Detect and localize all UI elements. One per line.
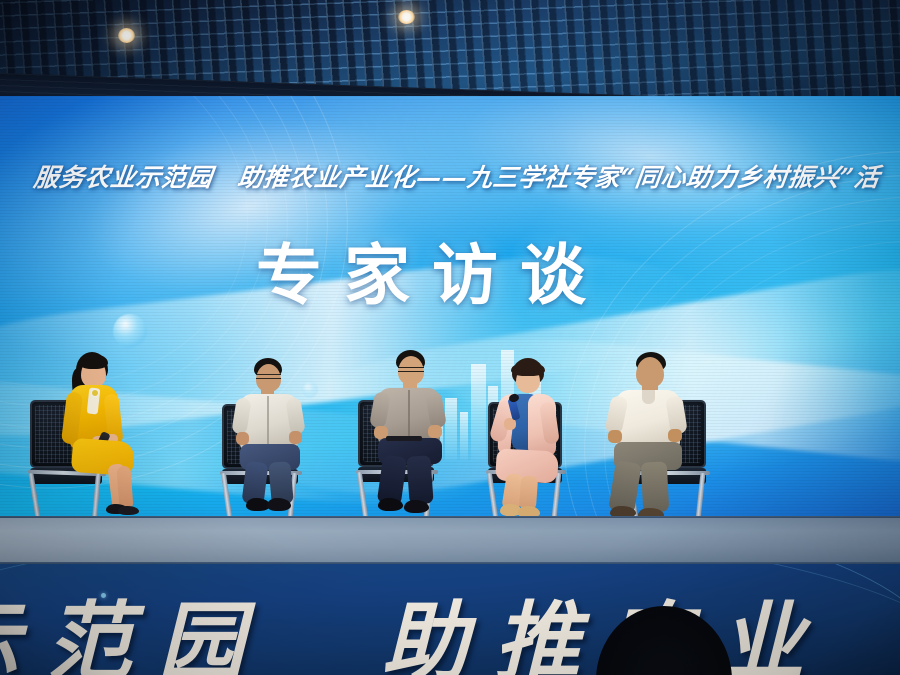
event-headline: 服务农业示范园 助推农业产业化——九三学社专家“同心助力乡村振兴”活 xyxy=(32,158,882,194)
panelist-shoe xyxy=(378,498,403,511)
participant-host xyxy=(62,352,152,522)
page-title: 专家访谈 xyxy=(256,222,608,318)
panelist-shoe xyxy=(267,498,291,511)
participant-panelist-3 xyxy=(490,358,578,518)
participant-panelist-2 xyxy=(372,350,464,518)
stage-scene: 服务农业示范园 助推农业产业化——九三学社专家“同心助力乡村振兴”活 专家访谈 xyxy=(0,0,900,675)
ceiling-downlight xyxy=(118,28,135,43)
participant-panelist-4 xyxy=(608,352,702,520)
stage-floor xyxy=(0,518,900,564)
stage-front-panel: 示范园 助推农业 xyxy=(0,564,900,675)
glasses-icon xyxy=(398,367,424,372)
panelist-shoe xyxy=(404,500,429,513)
host-shoe xyxy=(118,506,139,515)
glasses-icon xyxy=(256,374,281,379)
ceiling-downlight xyxy=(398,10,415,24)
participant-panelist-1 xyxy=(232,358,322,518)
